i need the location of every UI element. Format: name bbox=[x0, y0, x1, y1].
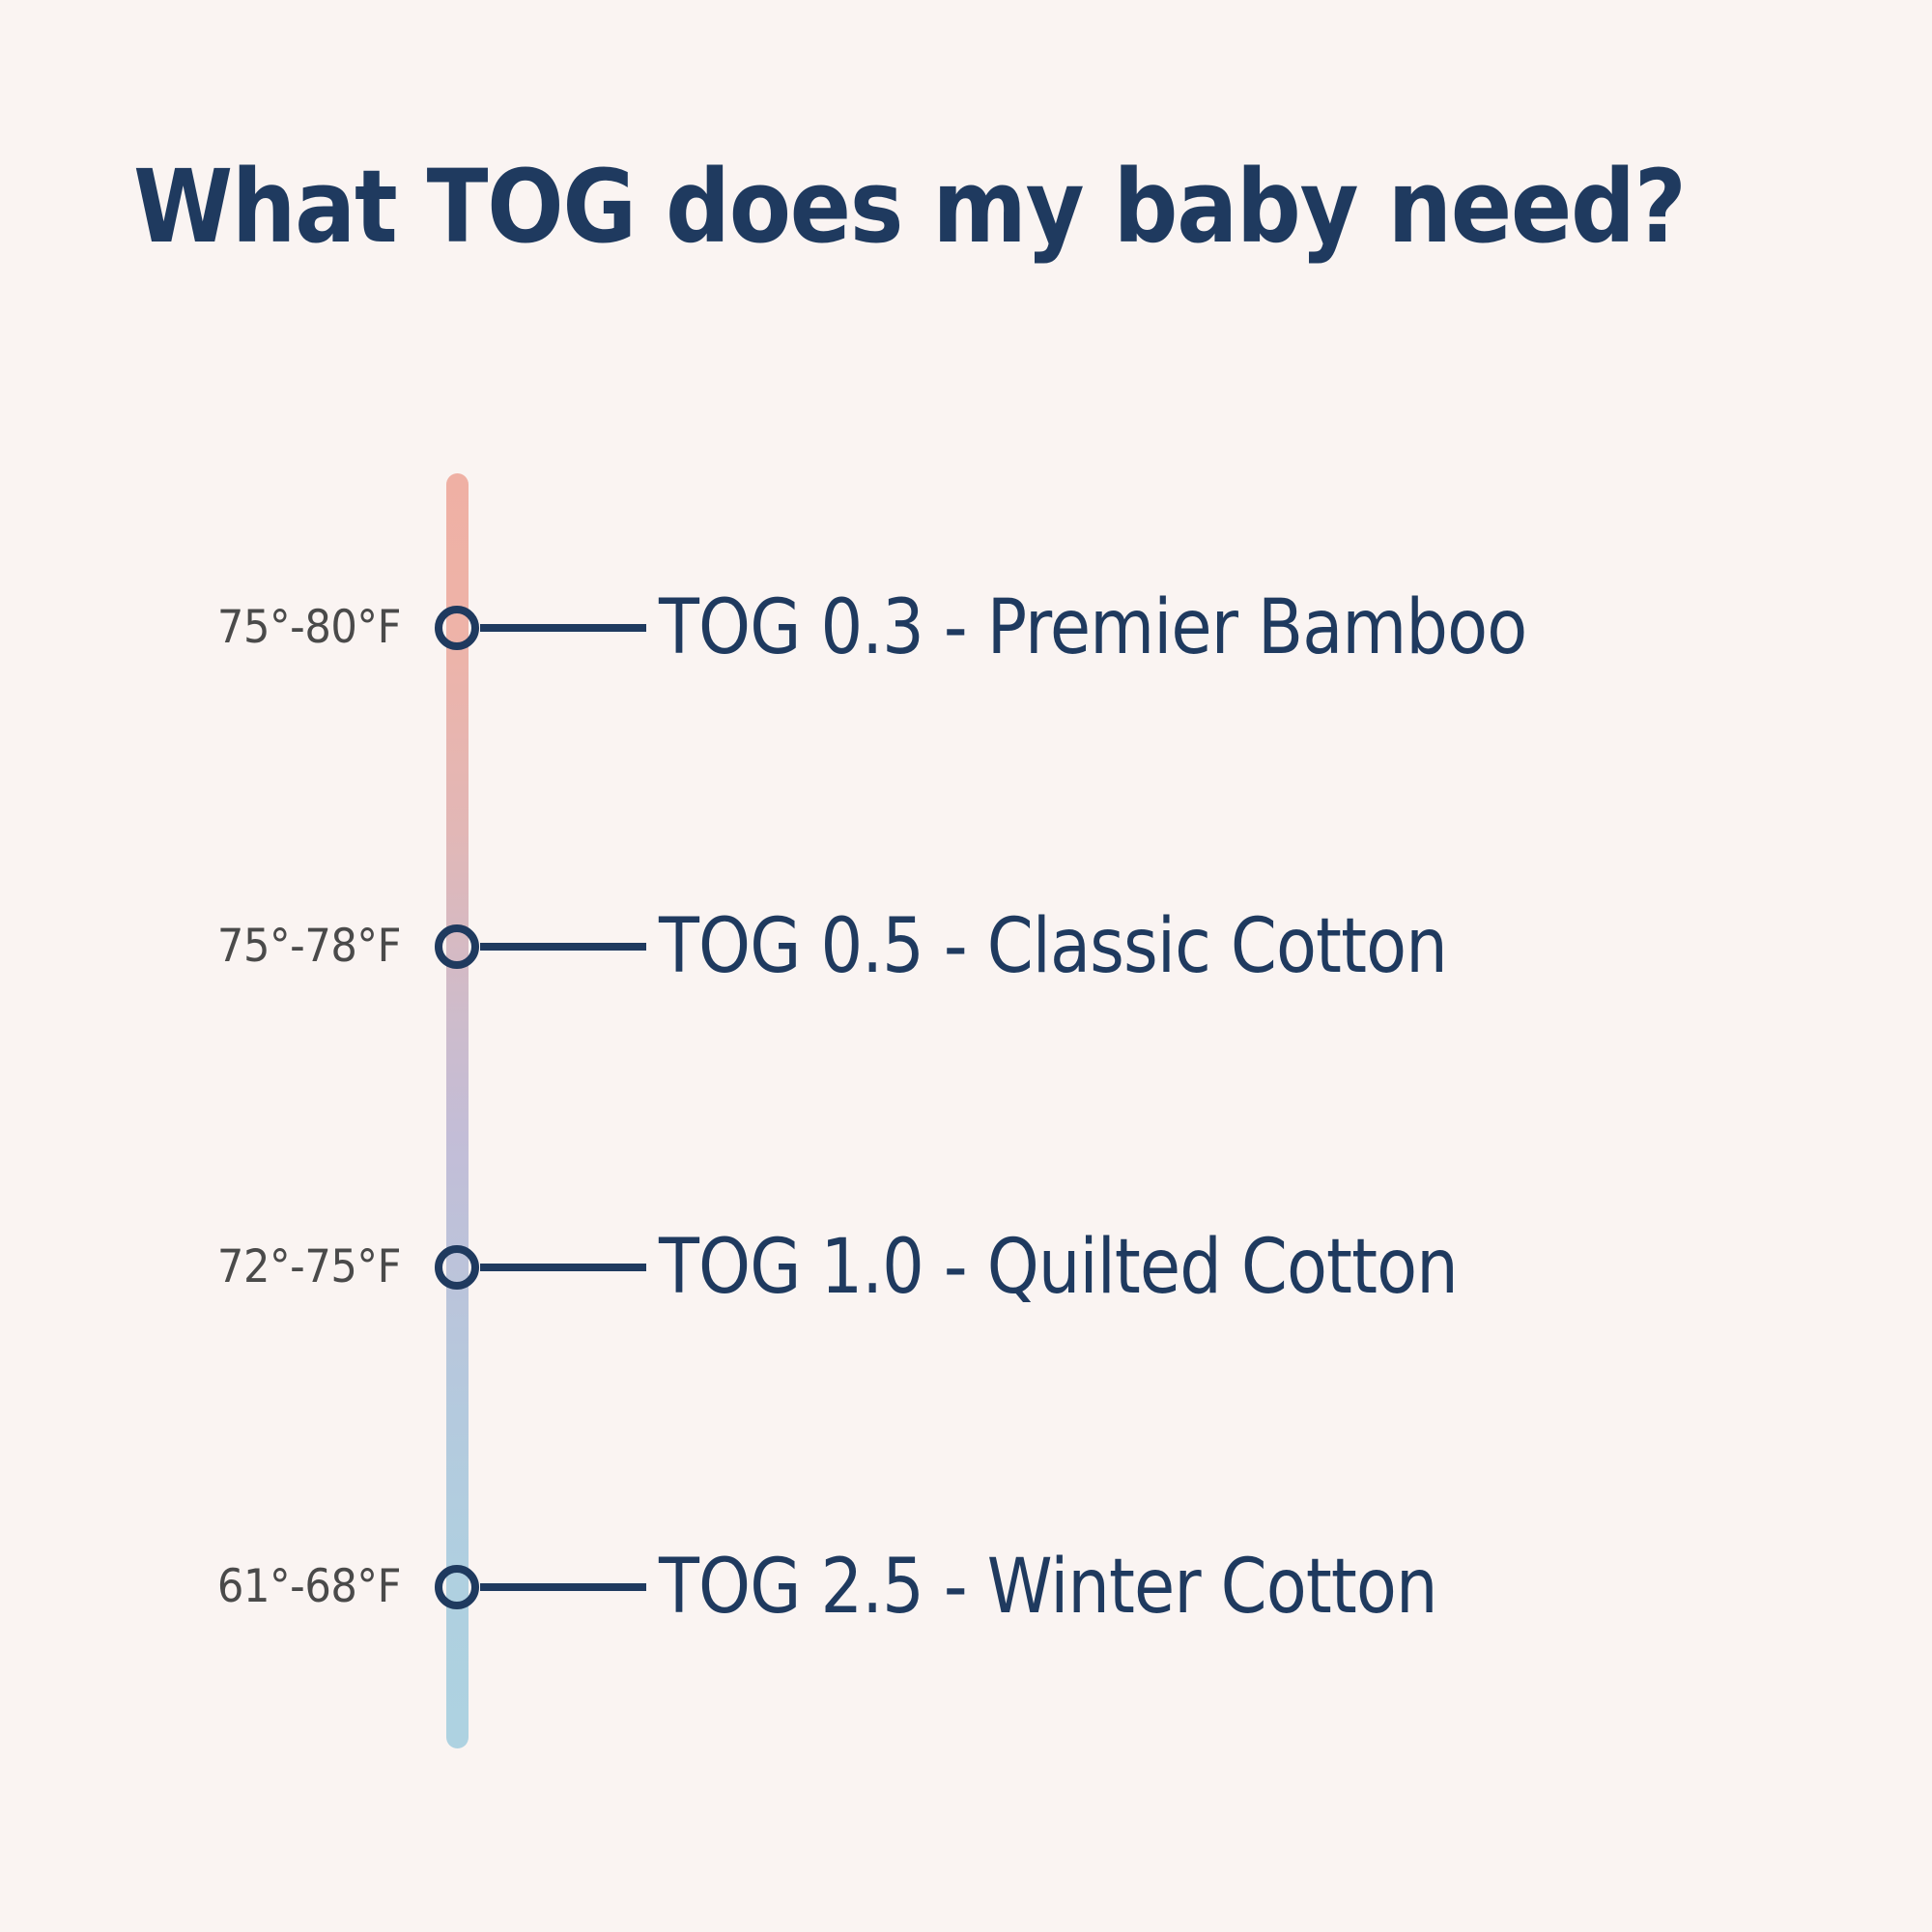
temperature-label: 75°-78°F bbox=[0, 916, 401, 978]
tog-product-label: TOG 0.5 - Classic Cotton bbox=[659, 904, 1764, 989]
page-title: What TOG does my baby need? bbox=[133, 153, 1663, 261]
timeline-marker-icon bbox=[435, 924, 479, 969]
temperature-label: 61°-68°F bbox=[0, 1556, 401, 1618]
temperature-label: 72°-75°F bbox=[0, 1236, 401, 1298]
tog-product-label: TOG 2.5 - Winter Cotton bbox=[659, 1545, 1764, 1630]
tog-product-label: TOG 1.0 - Quilted Cotton bbox=[659, 1225, 1764, 1310]
temperature-gradient-bar bbox=[446, 473, 469, 1748]
temperature-label: 75°-80°F bbox=[0, 597, 401, 659]
connector-line bbox=[480, 624, 646, 632]
timeline-marker-icon bbox=[435, 1245, 479, 1290]
tog-product-label: TOG 0.3 - Premier Bamboo bbox=[659, 585, 1764, 670]
timeline-marker-icon bbox=[435, 606, 479, 650]
connector-line bbox=[480, 943, 646, 951]
connector-line bbox=[480, 1583, 646, 1591]
timeline-marker-icon bbox=[435, 1565, 479, 1609]
tog-infographic: What TOG does my baby need? 75°-80°F TOG… bbox=[0, 0, 1932, 1932]
connector-line bbox=[480, 1264, 646, 1271]
